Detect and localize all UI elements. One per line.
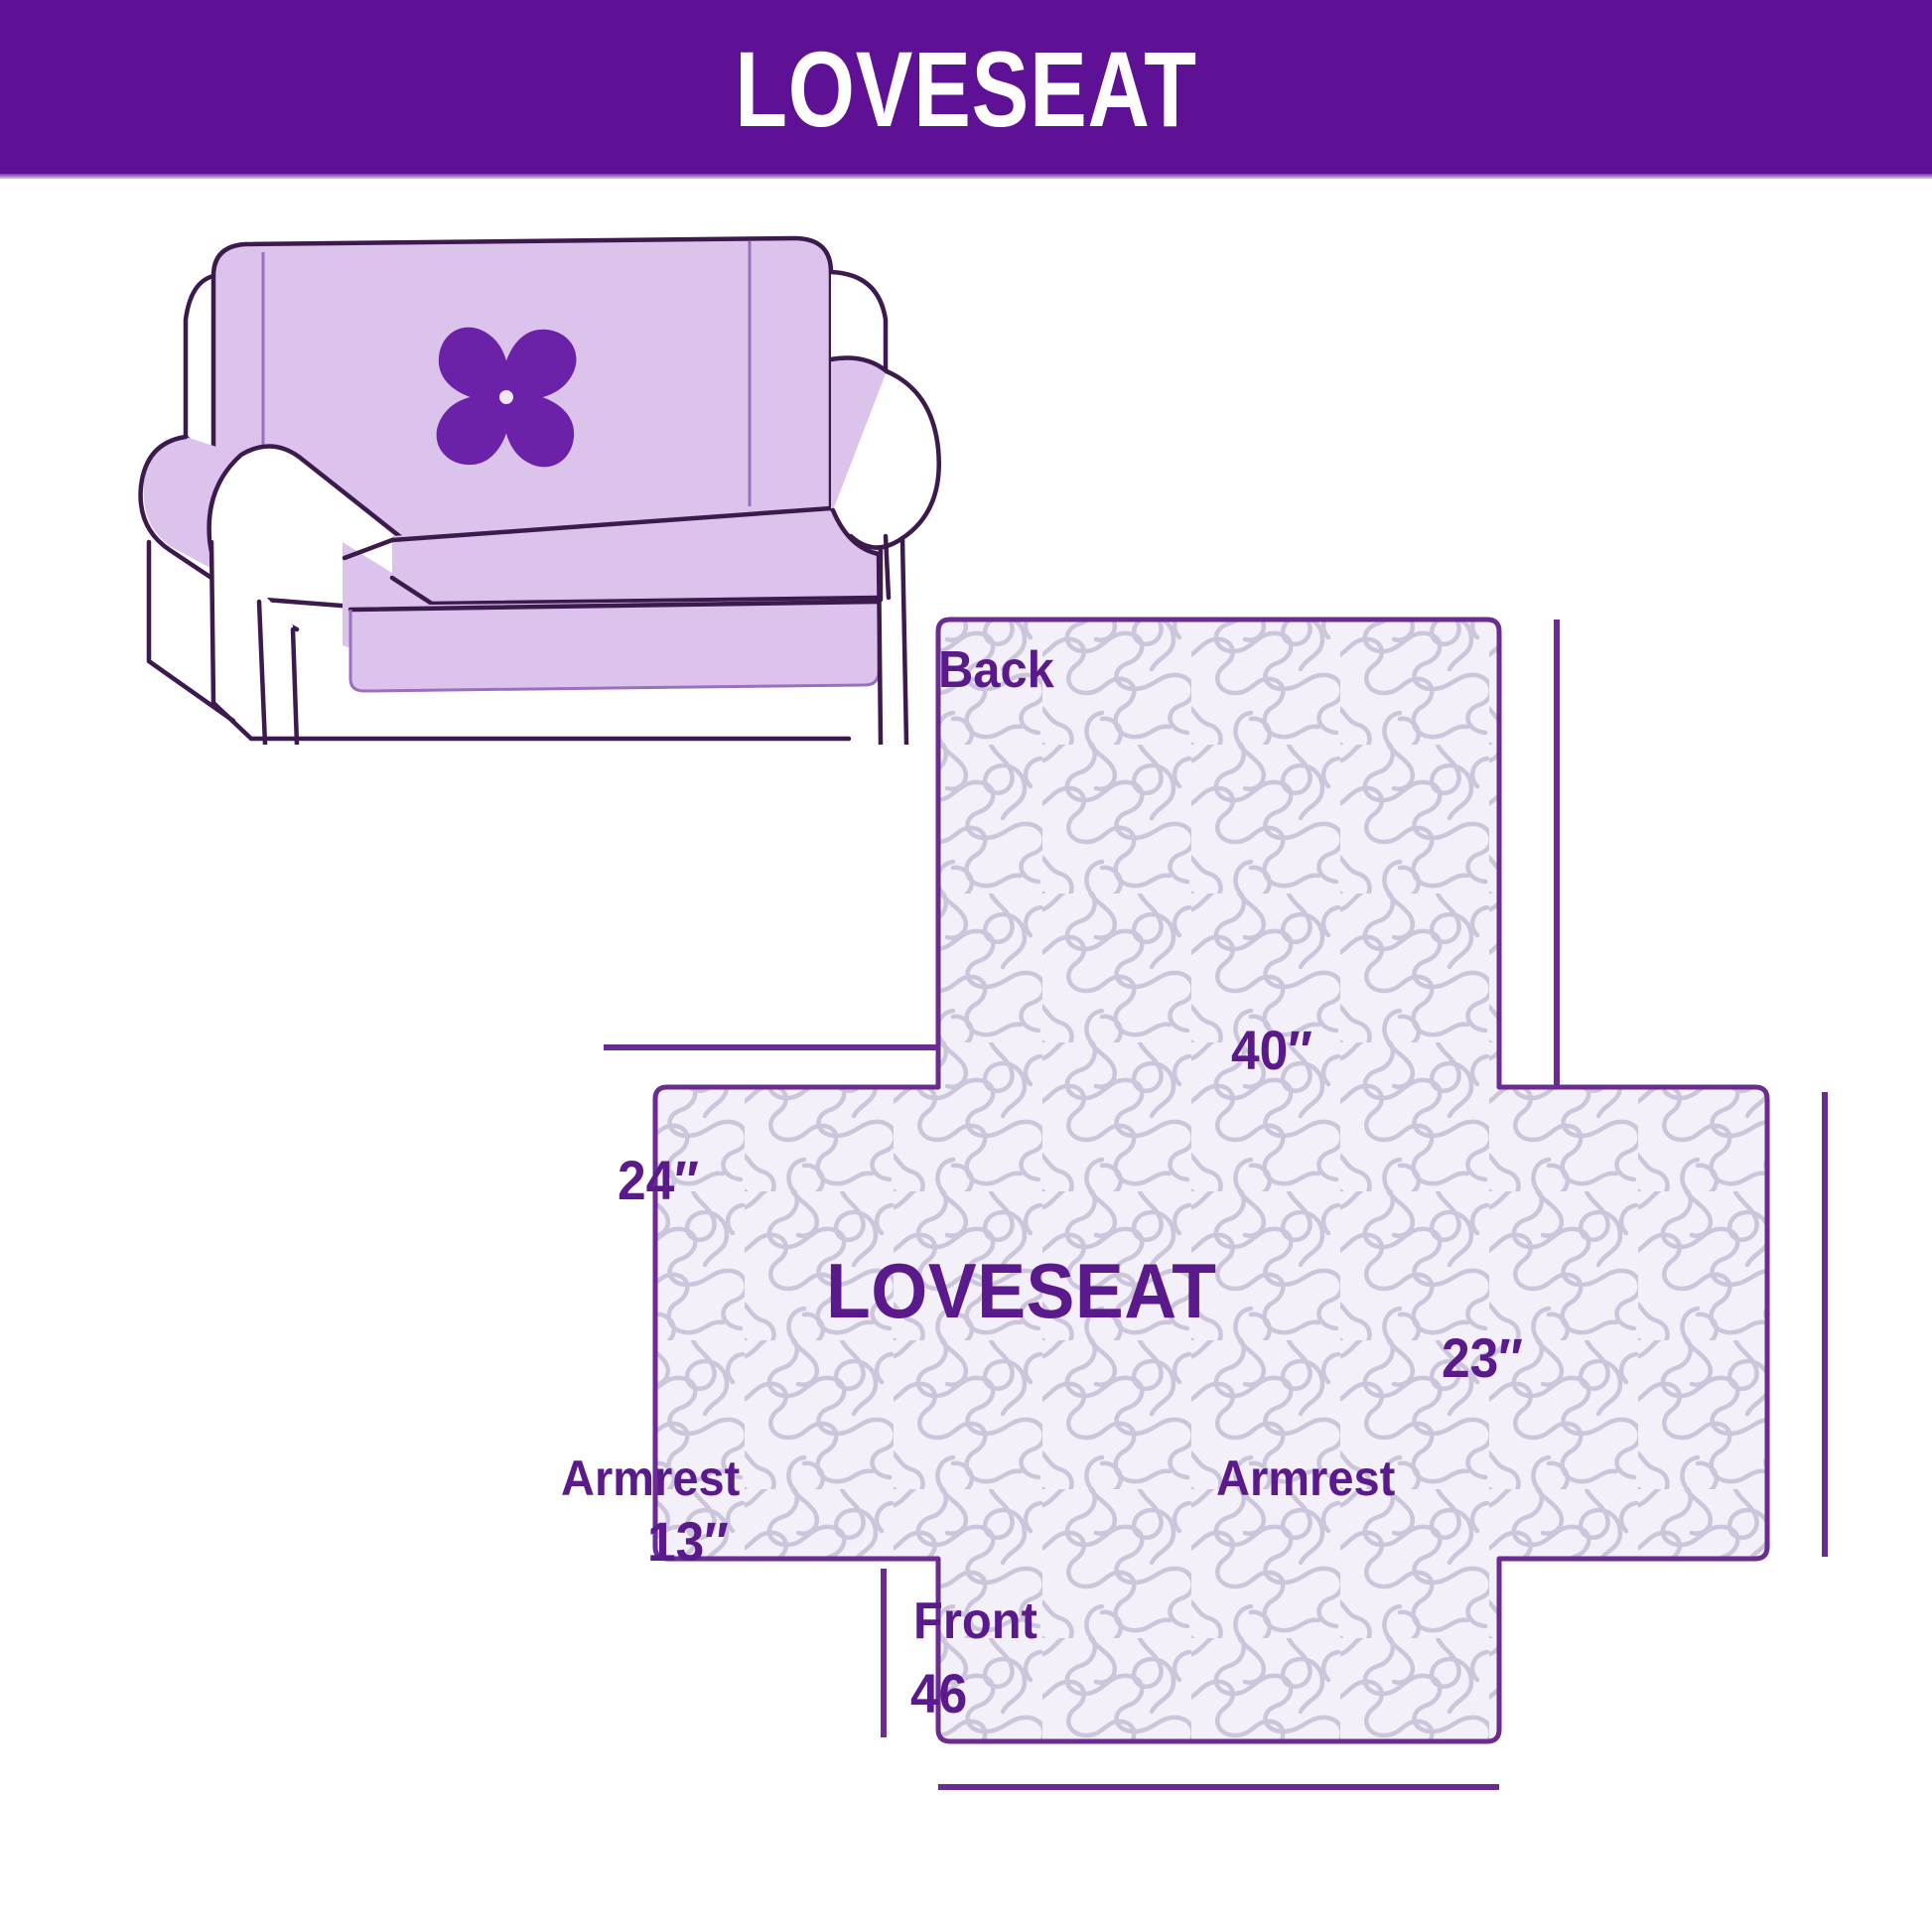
cross-pattern-shape (655, 620, 1767, 1741)
header-band: LOVESEAT (0, 0, 1932, 179)
panel-label-center: LOVESEAT (826, 1246, 1216, 1336)
slipcover-pattern-diagram: Back LOVESEAT Armrest Armrest Front 40″ … (596, 596, 1932, 1932)
page-title: LOVESEAT (735, 36, 1197, 143)
dimension-label-front-height: 13″ (647, 1509, 729, 1574)
dimension-label-back-width: 24″ (618, 1148, 699, 1212)
dimension-label-front-width: 46 (910, 1661, 967, 1725)
diagram-stage: .lav { fill:#DCC3EC; } .wht { fill:#FFFF… (0, 179, 1932, 1932)
panel-label-armrest-right: Armrest (1216, 1449, 1395, 1507)
panel-label-front: Front (913, 1591, 1037, 1651)
dimension-label-back-height: 40″ (1231, 1018, 1312, 1082)
dimension-label-armrest-height: 23″ (1442, 1325, 1523, 1390)
pattern-svg (596, 596, 1932, 1932)
panel-label-back: Back (938, 640, 1054, 700)
panel-label-armrest-left: Armrest (561, 1449, 740, 1507)
